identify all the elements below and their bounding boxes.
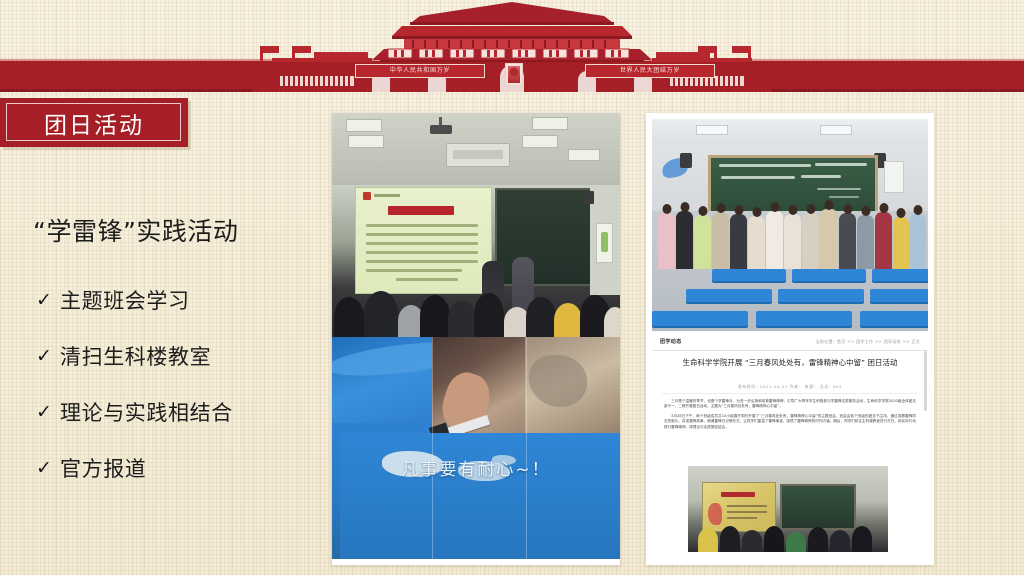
desk [792, 269, 866, 281]
projector [430, 125, 452, 134]
chalk-text [829, 196, 859, 198]
audience-head [830, 530, 850, 552]
person [857, 215, 874, 269]
slogan-left: 中华人民共和国万岁 [355, 64, 485, 78]
ceiling-light [532, 117, 568, 130]
screen-title-bar [388, 206, 454, 215]
article-body: 三月是个温暖的季节，也是个学雷锋月。为进一步弘扬和培育雷锋精神，引导广大青年学生… [664, 399, 916, 434]
audience-head [764, 526, 784, 552]
desk [870, 289, 928, 302]
blackboard [780, 484, 856, 530]
person [784, 214, 801, 269]
audience-head [334, 297, 364, 337]
article-paragraph: 3月28日下午，两个班级成员共10小组展开同时开展了“三月春风处处有，雷锋精神心… [664, 414, 916, 430]
desk [686, 289, 772, 302]
check-icon: ✓ [36, 291, 60, 310]
screen-text-line [366, 269, 462, 272]
desk [756, 311, 852, 326]
person [694, 215, 711, 269]
article-image [688, 466, 888, 552]
person [712, 212, 729, 269]
audience-head [786, 532, 806, 552]
projection-screen [702, 482, 776, 532]
scrollbar[interactable] [924, 351, 927, 411]
audience-head [720, 526, 740, 552]
check-icon: ✓ [36, 347, 60, 366]
photo-panel-left: 凡事要有耐心~！ [332, 113, 620, 565]
screen-logo-text [374, 194, 400, 197]
audience-head [698, 528, 718, 552]
check-icon: ✓ [36, 459, 60, 478]
speaker [584, 191, 594, 204]
list-item-label: 清扫生科楼教室 [60, 341, 211, 371]
wall-poster [884, 161, 904, 193]
chalk-text [801, 175, 841, 178]
list-item: ✓ 官方报道 [36, 440, 326, 496]
audience-head [474, 293, 504, 337]
audience-head [420, 295, 450, 337]
wall-poster [596, 223, 613, 263]
photo-seam [526, 337, 527, 565]
chalk-text [719, 164, 811, 167]
audience-head [604, 307, 620, 337]
screen-text-line [366, 242, 478, 245]
chalk-text [817, 188, 861, 190]
person [658, 213, 675, 269]
person [839, 213, 856, 269]
screen-text-line [366, 233, 478, 236]
classroom-lecture-photo [332, 113, 620, 337]
section-title-tab: 团日活动 [0, 98, 188, 147]
person [676, 211, 693, 269]
slide-root: 中华人民共和国万岁 世界人民大团结万岁 团日活动 “学雷锋”实践活动 ✓ 主题班… [0, 0, 1024, 575]
photo-caption-text: 凡事要有耐心~！ [401, 455, 550, 480]
portrait-icon [505, 63, 523, 86]
list-item: ✓ 清扫生科楼教室 [36, 328, 326, 384]
slogan-right: 世界人民大团结万岁 [585, 64, 715, 78]
photo-panel-right: 团学动态 当前位置：首页 >> 团学工作 >> 团学动态 >> 正文 生命科学学… [646, 113, 934, 565]
audience-head [742, 530, 762, 552]
person [820, 209, 838, 269]
list-item-label: 理论与实践相结合 [60, 397, 233, 427]
page-title: “学雷锋”实践活动 [33, 212, 313, 248]
person [730, 214, 747, 269]
desk [778, 289, 864, 302]
audience-head [808, 527, 828, 552]
bullet-list: ✓ 主题班会学习 ✓ 清扫生科楼教室 ✓ 理论与实践相结合 ✓ 官方报道 [36, 272, 326, 496]
ceiling [652, 119, 928, 145]
person [766, 211, 783, 269]
audience-row [332, 275, 620, 337]
person [748, 216, 765, 269]
ceiling-light [346, 119, 382, 132]
ceiling-light [568, 149, 600, 161]
title-tab-label: 团日活动 [0, 106, 188, 140]
chalk-text [721, 176, 795, 179]
audience-head [364, 291, 398, 337]
speaker [680, 153, 692, 168]
article-category[interactable]: 团学动态 [660, 338, 682, 345]
air-conditioner [446, 143, 510, 167]
desk [860, 311, 928, 326]
person [893, 217, 909, 269]
ceiling-light [522, 135, 558, 148]
ceiling-light [348, 135, 384, 148]
article-paragraph: 三月是个温暖的季节，也是个学雷锋月。为进一步弘扬和培育雷锋精神，引导广大青年学生… [664, 399, 916, 410]
article-title: 生命科学学院开展 “三月春风处处有，雷锋精神心中留” 团日活动 [666, 357, 914, 368]
list-item: ✓ 理论与实践相结合 [36, 384, 326, 440]
desk [872, 269, 928, 281]
desk [652, 311, 748, 326]
screen-logo-icon [363, 192, 371, 200]
article-meta: 发布时间：2021-04-01 作者： 来源： 点击：902 [652, 384, 928, 390]
photo-seam [432, 337, 433, 565]
check-icon: ✓ [36, 403, 60, 422]
cleaning-activity-photo: 凡事要有耐心~！ [332, 337, 620, 565]
news-article-screenshot[interactable]: 团学动态 当前位置：首页 >> 团学工作 >> 团学动态 >> 正文 生命科学学… [652, 335, 928, 559]
blue-desk-surface [340, 433, 620, 565]
article-topbar: 团学动态 当前位置：首页 >> 团学工作 >> 团学动态 >> 正文 [652, 335, 928, 351]
person [909, 214, 926, 269]
ceiling-light [820, 125, 852, 135]
breadcrumb: 当前位置：首页 >> 团学工作 >> 团学动态 >> 正文 [816, 339, 920, 345]
screen-text-line [366, 224, 478, 227]
audience-head [526, 297, 556, 337]
list-item-label: 官方报道 [60, 453, 146, 483]
top-banner: 中华人民共和国万岁 世界人民大团结万岁 [0, 0, 1024, 92]
chalk-text [815, 163, 867, 166]
person [802, 213, 819, 269]
desk [712, 269, 786, 281]
person [875, 212, 892, 269]
audience-head [554, 303, 582, 337]
group-photo [652, 119, 928, 331]
divider [662, 393, 918, 394]
photo-caption: 凡事要有耐心~！ [332, 455, 620, 489]
ceiling-light [696, 125, 728, 135]
screen-text-line [366, 251, 478, 254]
audience-head [852, 526, 872, 552]
list-item-label: 主题班会学习 [60, 285, 190, 315]
screen-text-line [366, 260, 478, 263]
audience-head [448, 301, 476, 337]
list-item: ✓ 主题班会学习 [36, 272, 326, 328]
